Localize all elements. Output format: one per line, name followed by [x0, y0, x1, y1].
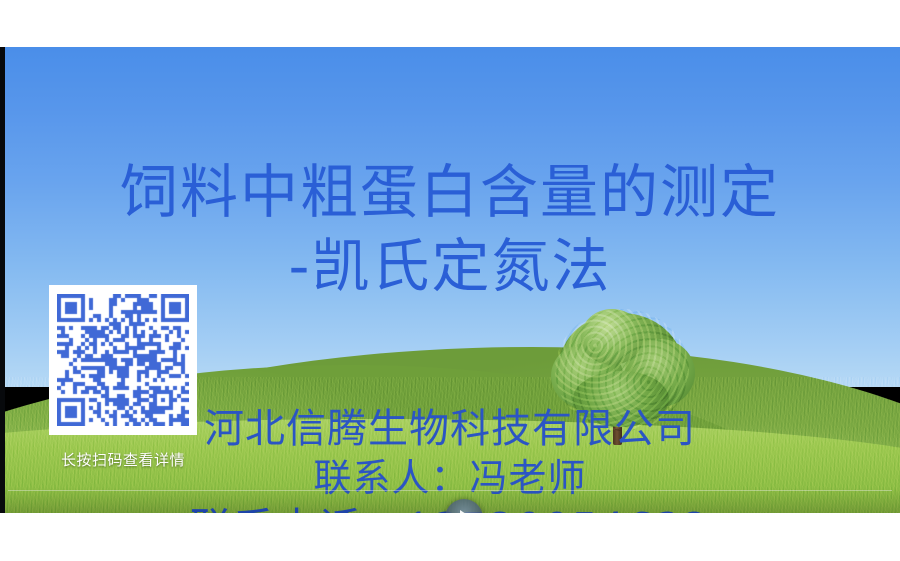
- qr-code-card[interactable]: [49, 285, 197, 435]
- tree-illustration: [551, 309, 693, 451]
- play-triangle-icon: [460, 510, 472, 513]
- video-stage[interactable]: 饲料中粗蛋白含量的测定 -凯氏定氮法 河北信腾生物科技有限公司 联系人：冯老师 …: [0, 47, 900, 513]
- qr-code-caption: 长按扫码查看详情: [49, 449, 197, 470]
- seek-bar[interactable]: [8, 490, 892, 491]
- tree-leaf-texture: [555, 309, 689, 431]
- qr-code-image[interactable]: [57, 294, 189, 426]
- left-letterbox-bar: [0, 47, 5, 513]
- page-root: 饲料中粗蛋白含量的测定 -凯氏定氮法 河北信腾生物科技有限公司 联系人：冯老师 …: [0, 0, 900, 561]
- qr-code-block[interactable]: 长按扫码查看详情: [49, 285, 197, 470]
